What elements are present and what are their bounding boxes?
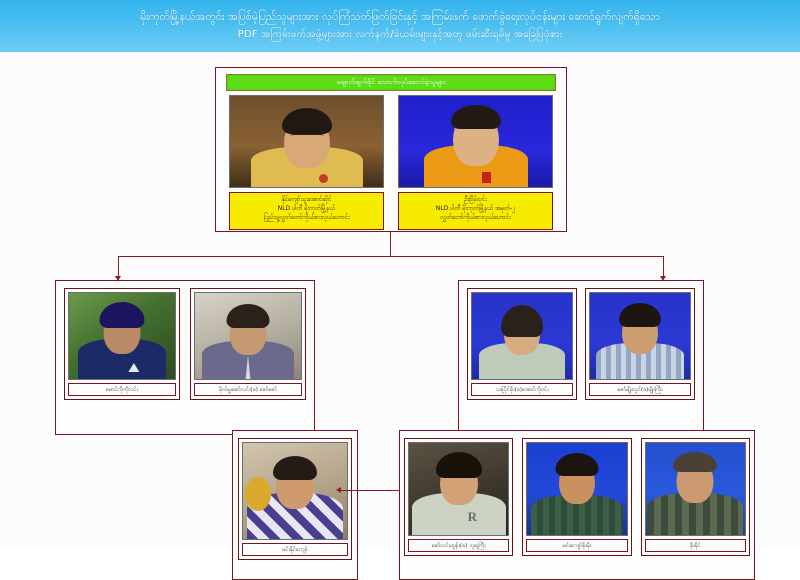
caption-person-10: စိုးနိုင် (645, 539, 746, 552)
caption-person-2: ဦးငြိမ်းဝင်း NLD ပါတီ မိုးကုတ်မြို့နယ် အ… (398, 192, 553, 230)
connector-top-stem (390, 232, 391, 256)
person-card-8[interactable]: R ဇော်လင်းထွန်း(ခ) သူရကြီး (404, 438, 513, 556)
person-card-3[interactable]: မောင်ကိုကိုလင်း (64, 288, 180, 400)
caption-person-3: မောင်ကိုကိုလင်း (68, 383, 176, 396)
photo-soe-naing (645, 442, 746, 536)
person-card-9[interactable]: မင်းကျော်စိုးမိုး (522, 438, 631, 556)
photo-ko-nyein-win (398, 95, 553, 188)
right-group-box: သန့်ပိုင်စိုး(ခ)အောင်ကိုဝင်း ဇော်မျိုးလွ… (458, 280, 704, 435)
photo-myint-naing (242, 442, 348, 540)
connector-to-left-group (118, 256, 119, 278)
connector-to-right-group (663, 256, 664, 278)
bottom-left-group-box: မင်းနိုင်ကျော် (232, 430, 358, 580)
caption-person-8: ဇော်လင်းထွန်း(ခ) သူရကြီး (408, 539, 509, 552)
caption-person-9: မင်းကျော်စိုးမိုး (526, 539, 627, 552)
connector-top-bus (118, 256, 664, 257)
top-group-header: ဖျောက်ဖျက်ဖိုင် သောက်လုပ်ဆောင်ခဲ့သူများ (226, 74, 556, 91)
right-group-cards: သန့်ပိုင်စိုး(ခ)အောင်ကိုဝင်း ဇော်မျိုးလွ… (463, 285, 699, 400)
left-group-box: မောင်ကိုကိုလင်း ဗိုလ်မှူးဇော်လင်း(ခ) ဇော… (55, 280, 315, 435)
caption-person-1: နိုင်ကျော်သူးအောင်ဆိုင် NLD ပါတီ မိုးကုတ… (229, 192, 384, 230)
caption-person-4: ဗိုလ်မှူးဇော်လင်း(ခ) ဇော်ဇော် (194, 383, 302, 396)
connector-bottom-horizontal (341, 490, 401, 491)
photo-htet-myat-kyaw: R (408, 442, 509, 536)
photo-ye-naing-oo (68, 292, 176, 380)
bottom-right-group-box: R ဇော်လင်းထွန်း(ခ) သူရကြီး မင်းကျော်စိုး… (399, 430, 755, 580)
caption-person-6: ဇော်မျိုးလွင်(ခ)မျိုးကြီး (589, 383, 691, 396)
photo-zaw-myo-lwin (589, 292, 691, 380)
photo-kyaw-soe-moe (526, 442, 627, 536)
person-card-1[interactable]: နိုင်ကျော်သူးအောင်ဆိုင် NLD ပါတီ မိုးကုတ… (229, 95, 384, 230)
top-group-cards: နိုင်ကျော်သူးအောင်ဆိုင် NLD ပါတီ မိုးကုတ… (220, 95, 562, 230)
person-card-5[interactable]: သန့်ပိုင်စိုး(ခ)အောင်ကိုဝင်း (467, 288, 577, 400)
top-group-box: ဖျောက်ဖျက်ဖိုင် သောက်လုပ်ဆောင်ခဲ့သူများ … (215, 67, 567, 232)
caption-person-5: သန့်ပိုင်စိုး(ခ)အောင်ကိုဝင်း (471, 383, 573, 396)
person-card-4[interactable]: ဗိုလ်မှူးဇော်လင်း(ခ) ဇော်ဇော် (190, 288, 306, 400)
left-group-cards: မောင်ကိုကိုလင်း ဗိုလ်မှူးဇော်လင်း(ခ) ဇော… (60, 285, 310, 400)
bottom-right-group-cards: R ဇော်လင်းထွန်း(ခ) သူရကြီး မင်းကျော်စိုး… (404, 435, 750, 556)
photo-thet-paing-soe (471, 292, 573, 380)
bottom-left-group-cards: မင်းနိုင်ကျော် (237, 435, 353, 560)
banner-line-2: PDF အကြမ်းဖက်အဖွဲ့များအား လက်နက်/ခဲယမ်းမ… (238, 26, 563, 43)
person-card-7[interactable]: မင်းနိုင်ကျော် (238, 438, 352, 560)
banner-line-1: မိုးကုတ်မြို့နယ်အတွင်း အပြစ်မဲ့ပြည်သူမျာ… (140, 9, 660, 26)
photo-ko-kyaw-thura-aung-hsaing (229, 95, 384, 188)
photo-thiha-aung (194, 292, 302, 380)
person-card-6[interactable]: ဇော်မျိုးလွင်(ခ)မျိုးကြီး (585, 288, 695, 400)
person-card-2[interactable]: ဦးငြိမ်းဝင်း NLD ပါတီ မိုးကုတ်မြို့နယ် အ… (398, 95, 553, 230)
org-chart-canvas: ဖျောက်ဖျက်ဖိုင် သောက်လုပ်ဆောင်ခဲ့သူများ … (0, 52, 800, 550)
page-header-banner: မိုးကုတ်မြို့နယ်အတွင်း အပြစ်မဲ့ပြည်သူမျာ… (0, 0, 800, 52)
arrow-to-bottom-left-group (336, 487, 341, 493)
person-card-10[interactable]: စိုးနိုင် (641, 438, 750, 556)
